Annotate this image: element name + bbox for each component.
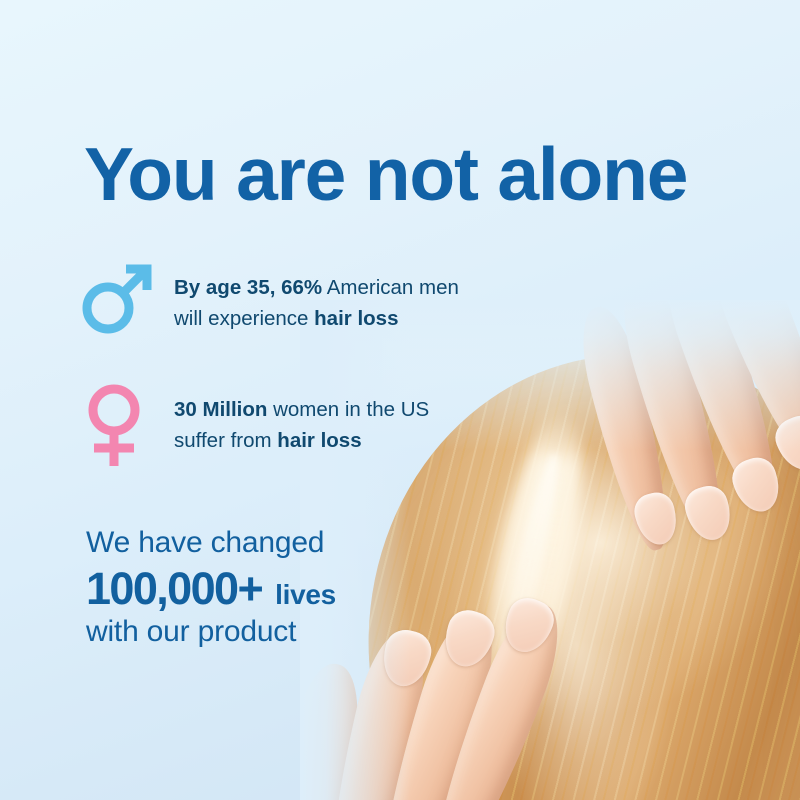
female-gender-icon xyxy=(78,380,156,468)
stat-text-men: By age 35, 66% American men will experie… xyxy=(174,258,459,334)
photo-inner xyxy=(300,300,800,800)
male-gender-icon xyxy=(78,260,156,338)
lives-changed-number: 100,000+ xyxy=(86,566,262,611)
stat-men-line1: By age 35, 66% American men xyxy=(174,272,459,303)
stat-women-bold2: hair loss xyxy=(277,429,361,452)
page-title: You are not alone xyxy=(84,137,687,212)
male-icon-wrap xyxy=(78,258,174,338)
stat-women-line1: 30 Million women in the US xyxy=(174,394,429,425)
stat-men-bold1: By age 35, 66% xyxy=(174,276,322,299)
stat-text-women: 30 Million women in the US suffer from h… xyxy=(174,378,429,456)
closing-statement: We have changed 100,000+ lives with our … xyxy=(86,525,336,650)
closing-line1: We have changed xyxy=(86,525,336,560)
stat-men-line2: will experience hair loss xyxy=(174,303,459,334)
closing-line3: with our product xyxy=(86,614,336,649)
stat-row-women: 30 Million women in the US suffer from h… xyxy=(78,378,429,468)
stat-men-rest2: will experience xyxy=(174,307,314,330)
stat-women-rest2: suffer from xyxy=(174,429,277,452)
stat-men-bold2: hair loss xyxy=(314,307,398,330)
stat-women-line2: suffer from hair loss xyxy=(174,425,429,456)
stat-women-bold1: 30 Million xyxy=(174,398,267,421)
stat-row-men: By age 35, 66% American men will experie… xyxy=(78,258,459,338)
stat-women-rest1: women in the US xyxy=(267,398,429,421)
female-icon-wrap xyxy=(78,378,174,468)
hair-loss-photo xyxy=(300,300,800,800)
closing-line2: 100,000+ lives xyxy=(86,566,336,611)
promo-poster: You are not alone By age 35, 66% America… xyxy=(0,0,800,800)
stat-men-rest1: American men xyxy=(322,276,459,299)
lives-changed-label: lives xyxy=(275,579,336,611)
